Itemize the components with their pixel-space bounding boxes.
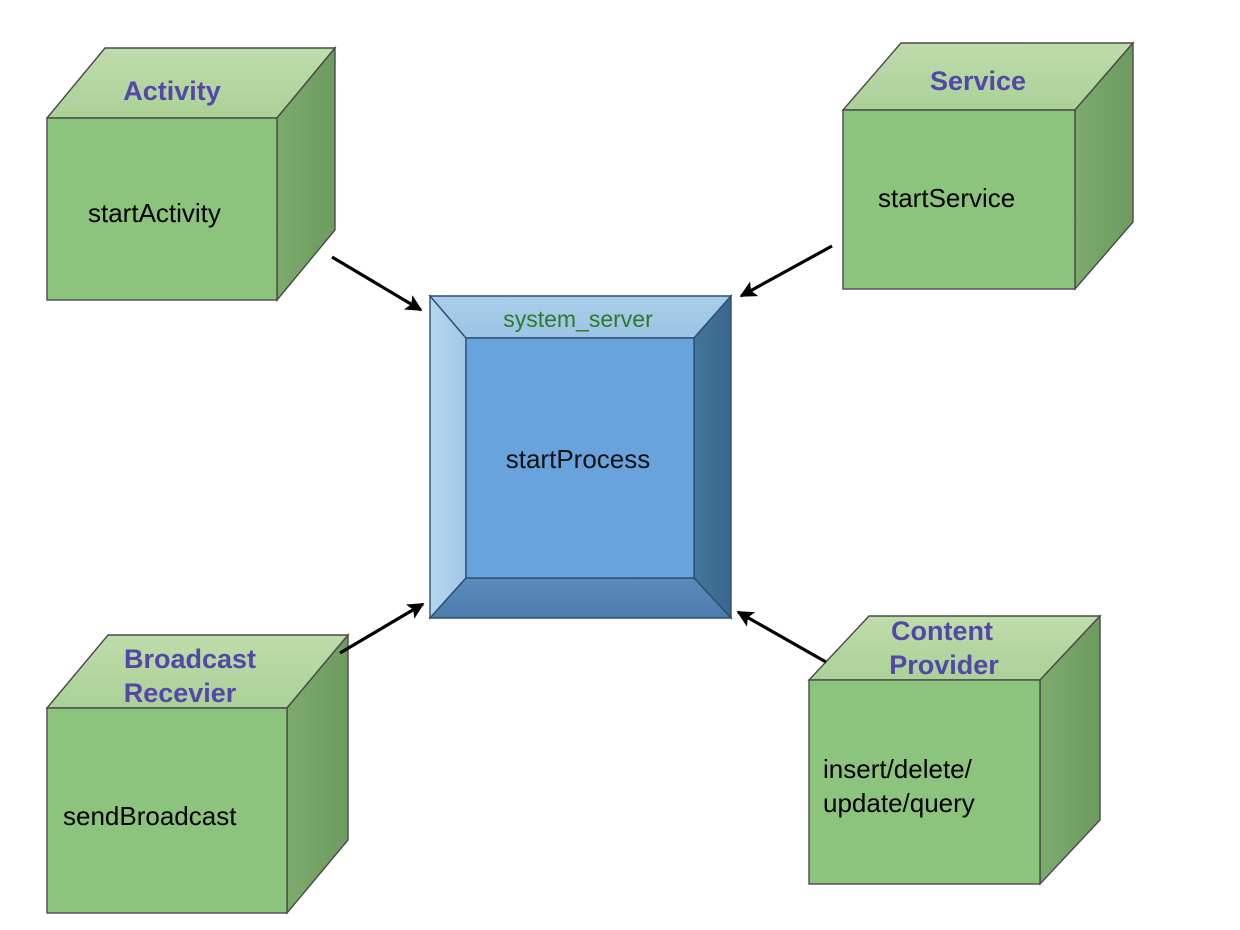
service-title: Service	[930, 66, 1026, 96]
server-body-label: startProcess	[506, 444, 651, 474]
arrow-service-to-server-line	[741, 246, 832, 296]
broadcast-body-label: sendBroadcast	[63, 801, 237, 831]
node-broadcast-receiver[interactable]: Broadcast Recevier sendBroadcast	[47, 635, 348, 913]
provider-body-line-1: insert/delete/	[823, 754, 973, 784]
arrow-broadcast-to-server	[340, 604, 423, 653]
server-bevel-right	[694, 296, 731, 618]
server-bevel-bottom	[430, 578, 731, 618]
provider-body-line-2: update/query	[823, 788, 975, 818]
server-title-label: system_server	[503, 306, 653, 332]
arrow-provider-to-server-line	[738, 612, 826, 662]
diagram-canvas: Activity startActivity Service startServ…	[0, 0, 1240, 930]
server-bevel-left	[430, 296, 466, 618]
activity-body-label: startActivity	[88, 198, 221, 228]
activity-title: Activity	[123, 76, 221, 106]
service-body-label: startService	[878, 183, 1015, 213]
provider-title-line-1: Content	[891, 616, 993, 646]
broadcast-title-line-2: Recevier	[124, 678, 237, 708]
arrow-provider-to-server	[738, 612, 826, 662]
node-content-provider[interactable]: Content Provider insert/delete/ update/q…	[809, 616, 1100, 884]
node-system-server[interactable]: system_server startProcess	[430, 296, 731, 618]
arrow-service-to-server	[741, 246, 832, 296]
node-service[interactable]: Service startService	[843, 43, 1133, 289]
arrow-activity-to-server	[332, 257, 421, 310]
provider-title-line-2: Provider	[889, 650, 999, 680]
arrow-broadcast-to-server-line	[340, 604, 423, 653]
arrow-activity-to-server-line	[332, 257, 421, 310]
node-activity[interactable]: Activity startActivity	[47, 48, 335, 300]
architecture-diagram: Activity startActivity Service startServ…	[0, 0, 1240, 930]
broadcast-title-line-1: Broadcast	[124, 644, 256, 674]
